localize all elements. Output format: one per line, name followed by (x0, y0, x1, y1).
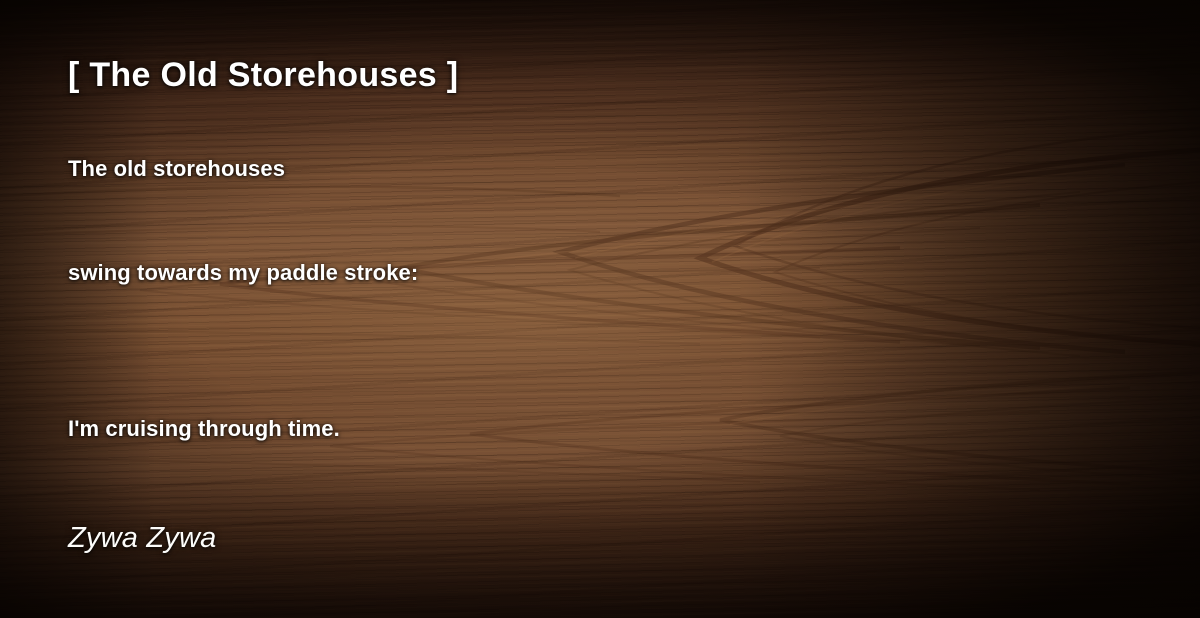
poem-image-card: [ The Old Storehouses ] The old storehou… (0, 0, 1200, 618)
poem-body: The old storehouses swing towards my pad… (68, 158, 418, 470)
poem-line-blank (68, 210, 418, 232)
poem-title: [ The Old Storehouses ] (68, 57, 458, 94)
poem-line: I'm cruising through time. (68, 418, 418, 440)
poem-line-blank (68, 366, 418, 388)
poem-line: The old storehouses (68, 158, 418, 180)
poem-line-blank (68, 314, 418, 336)
poem-content: [ The Old Storehouses ] The old storehou… (0, 0, 1200, 618)
poem-author: Zywa Zywa (68, 523, 216, 555)
poem-line: swing towards my paddle stroke: (68, 262, 418, 284)
